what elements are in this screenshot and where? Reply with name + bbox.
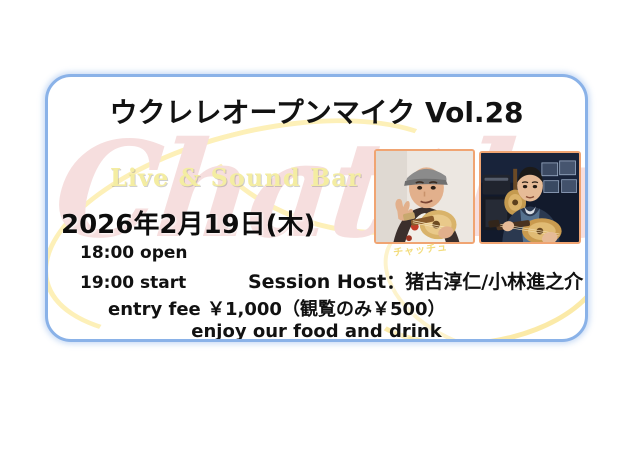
event-date: 2026年2月19日(木) [61, 204, 315, 241]
photo-host-2 [479, 151, 581, 244]
food-drink-note: enjoy our food and drink [48, 321, 585, 342]
session-host: Session Host：猪古淳仁/小林進之介 [248, 267, 583, 294]
photo-host-1 [374, 149, 475, 244]
photo-host-2-image [481, 153, 579, 242]
entry-fee: entry fee ￥1,000（観覧のみ￥500） [108, 295, 446, 321]
event-title: ウクレレオープンマイク Vol.28 [48, 91, 585, 131]
photo-host-1-image [376, 151, 473, 242]
event-flyer-card: Chatchu ウクレレオープンマイク Vol.28 Live & Sound … [45, 74, 588, 342]
event-open-time: 18:00 open [80, 243, 188, 263]
event-start-time: 19:00 start [80, 273, 186, 293]
venue-wordmark: Live & Sound Bar [110, 163, 361, 192]
